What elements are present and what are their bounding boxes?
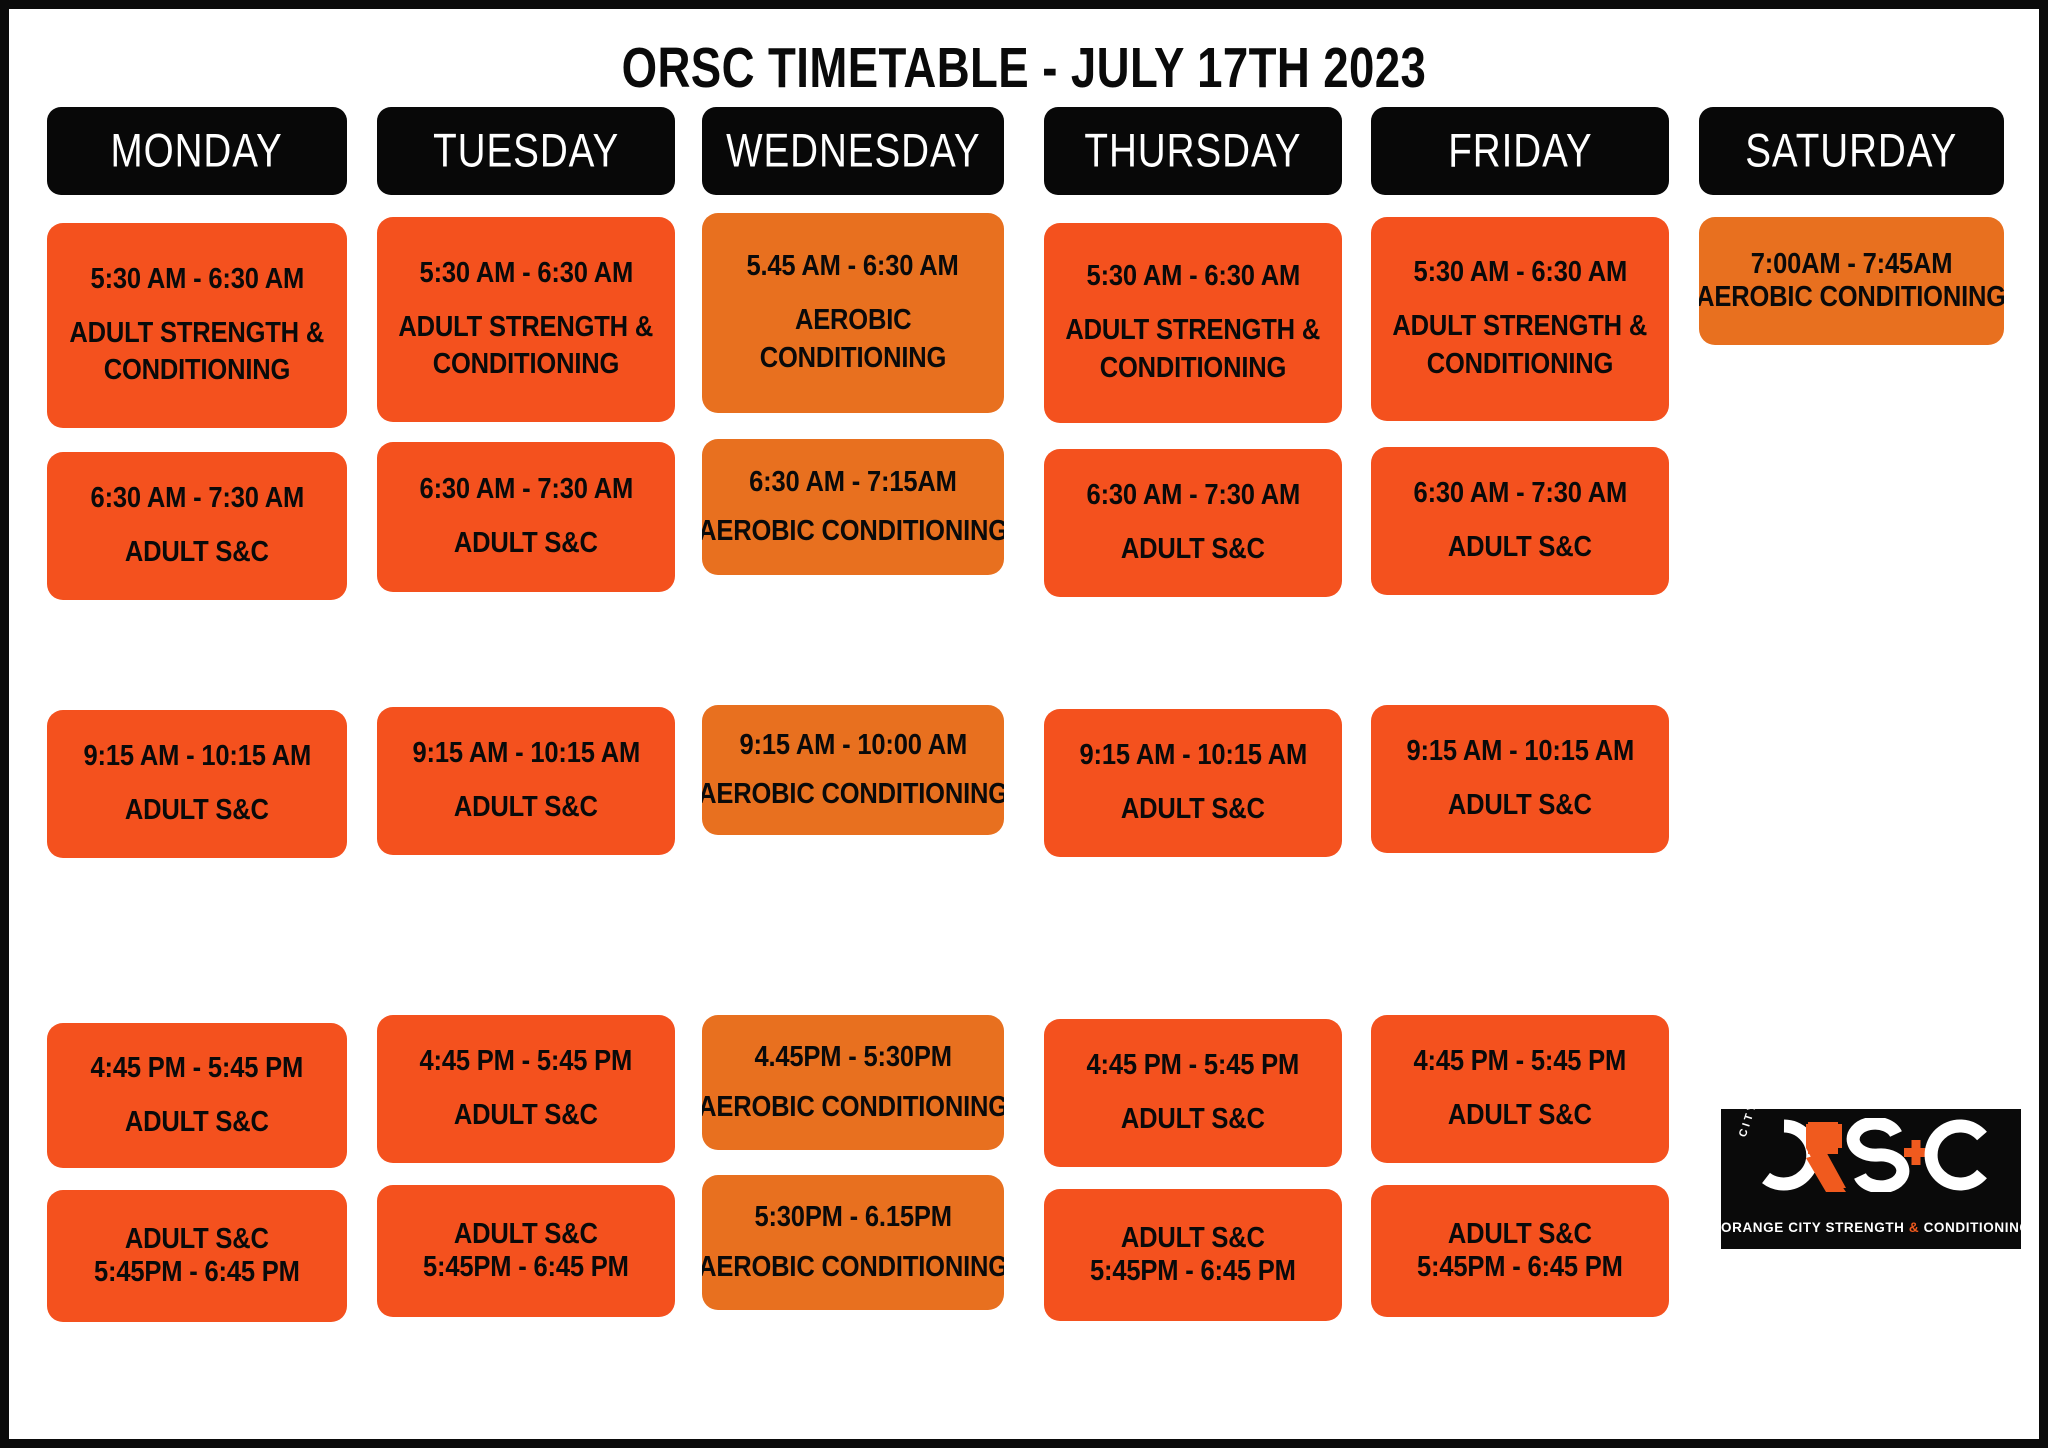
session-time: 5:45PM - 6:45 PM [1090, 1255, 1296, 1288]
session-name-line2: CONDITIONING [104, 352, 290, 390]
session-time: 6:30 AM - 7:15AM [749, 466, 957, 499]
day-header-monday: MONDAY [47, 107, 347, 195]
session-card[interactable]: 6:30 AM - 7:30 AM ADULT S&C [1044, 449, 1342, 597]
title-bar: ORSC TIMETABLE - JULY 17TH 2023 [9, 9, 2039, 107]
day-header-thursday: THURSDAY [1044, 107, 1342, 195]
day-header-label: MONDAY [111, 124, 283, 178]
session-name-line2: CONDITIONING [1427, 346, 1613, 384]
session-name-line1: ADULT S&C [1121, 1222, 1265, 1255]
session-card[interactable]: 4:45 PM - 5:45 PM ADULT S&C [377, 1015, 675, 1163]
session-card[interactable]: ADULT S&C 5:45PM - 6:45 PM [1371, 1185, 1669, 1317]
session-name-line1: ADULT S&C [125, 1223, 269, 1256]
session-name-line1: ADULT S&C [1448, 529, 1592, 567]
logo-tagline-ampersand: & [1909, 1220, 1919, 1235]
session-name-line1: AEROBIC CONDITIONING [702, 515, 1004, 548]
logo-tagline: ORANGE CITY STRENGTH & CONDITIONING [1721, 1220, 2021, 1235]
session-time: 9:15 AM - 10:15 AM [83, 738, 311, 776]
day-header-label: THURSDAY [1084, 124, 1301, 178]
session-name-line1: ADULT S&C [1121, 791, 1265, 829]
day-header-saturday: SATURDAY [1699, 107, 2004, 195]
session-time: 5:30 AM - 6:30 AM [90, 261, 304, 299]
session-name-line1: ADULT S&C [125, 534, 269, 572]
day-header-friday: FRIDAY [1371, 107, 1669, 195]
session-name-line1: ADULT S&C [1121, 1101, 1265, 1139]
column-monday: MONDAY 5:30 AM - 6:30 AM ADULT STRENGTH … [47, 107, 347, 1322]
session-name-line1: AEROBIC CONDITIONING [702, 1251, 1004, 1284]
session-time: 4.45PM - 5:30PM [754, 1041, 951, 1074]
session-card[interactable]: 6:30 AM - 7:30 AM ADULT S&C [47, 452, 347, 600]
session-name-line1: ADULT S&C [125, 1104, 269, 1142]
session-time: 7:00AM - 7:45AM [1751, 248, 1953, 281]
session-time: 5:45PM - 6:45 PM [423, 1251, 629, 1284]
column-saturday: SATURDAY 7:00AM - 7:45AM AEROBIC CONDITI… [1699, 107, 2004, 345]
session-time: 6:30 AM - 7:30 AM [1086, 477, 1300, 515]
session-name-line1: ADULT STRENGTH & [1393, 308, 1648, 346]
session-card[interactable]: 5:30PM - 6.15PM AEROBIC CONDITIONING [702, 1175, 1004, 1310]
session-name-line1: ADULT S&C [125, 792, 269, 830]
session-name-line1: ADULT S&C [454, 1218, 598, 1251]
session-name-line1: ADULT S&C [1121, 531, 1265, 569]
session-name-line1: AEROBIC CONDITIONING [702, 778, 1004, 811]
session-name-line1: ADULT S&C [1448, 1218, 1592, 1251]
orsc-logo: CITY ORANG [1721, 1109, 2021, 1249]
session-card[interactable]: ADULT S&C 5:45PM - 6:45 PM [1044, 1189, 1342, 1321]
day-header-label: WEDNESDAY [726, 124, 980, 178]
session-card[interactable]: 4:45 PM - 5:45 PM ADULT S&C [1371, 1015, 1669, 1163]
column-thursday: THURSDAY 5:30 AM - 6:30 AM ADULT STRENGT… [1044, 107, 1342, 1321]
session-card[interactable]: 9:15 AM - 10:15 AM ADULT S&C [1044, 709, 1342, 857]
day-header-label: FRIDAY [1448, 124, 1592, 178]
column-friday: FRIDAY 5:30 AM - 6:30 AM ADULT STRENGTH … [1371, 107, 1669, 1317]
session-card[interactable]: ADULT S&C 5:45PM - 6:45 PM [47, 1190, 347, 1322]
page-title: ORSC TIMETABLE - JULY 17TH 2023 [622, 35, 1427, 101]
session-name-line1: AEROBIC CONDITIONING [1699, 281, 2004, 314]
session-time: 9:15 AM - 10:15 AM [412, 735, 640, 773]
session-name-line1: ADULT STRENGTH & [70, 315, 325, 353]
session-time: 6:30 AM - 7:30 AM [1413, 475, 1627, 513]
session-time: 4:45 PM - 5:45 PM [1087, 1047, 1300, 1085]
session-name-line1: ADULT S&C [454, 525, 598, 563]
day-header-label: SATURDAY [1745, 124, 1957, 178]
session-name-line1: ADULT STRENGTH & [399, 309, 654, 347]
session-time: 4:45 PM - 5:45 PM [1414, 1043, 1627, 1081]
session-card[interactable]: 5:30 AM - 6:30 AM ADULT STRENGTH & CONDI… [377, 217, 675, 422]
session-name-line1: ADULT S&C [1448, 787, 1592, 825]
session-name-line2: CONDITIONING [433, 346, 619, 384]
session-card[interactable]: 7:00AM - 7:45AM AEROBIC CONDITIONING [1699, 217, 2004, 345]
session-card[interactable]: ADULT S&C 5:45PM - 6:45 PM [377, 1185, 675, 1317]
session-time: 5:30 AM - 6:30 AM [419, 255, 633, 293]
session-card[interactable]: 4:45 PM - 5:45 PM ADULT S&C [1044, 1019, 1342, 1167]
day-header-label: TUESDAY [433, 124, 619, 178]
day-header-tuesday: TUESDAY [377, 107, 675, 195]
day-header-wednesday: WEDNESDAY [702, 107, 1004, 195]
session-name-line1: AEROBIC [795, 302, 911, 340]
session-time: 5:30 AM - 6:30 AM [1413, 254, 1627, 292]
session-time: 9:15 AM - 10:15 AM [1079, 737, 1307, 775]
session-card[interactable]: 5:30 AM - 6:30 AM ADULT STRENGTH & CONDI… [1371, 217, 1669, 421]
column-tuesday: TUESDAY 5:30 AM - 6:30 AM ADULT STRENGTH… [377, 107, 675, 1317]
timetable-poster: ORSC TIMETABLE - JULY 17TH 2023 MONDAY 5… [0, 0, 2048, 1448]
session-card[interactable]: 6:30 AM - 7:30 AM ADULT S&C [377, 442, 675, 592]
session-name-line1: ADULT S&C [454, 1097, 598, 1135]
session-card[interactable]: 5.45 AM - 6:30 AM AEROBIC CONDITIONING [702, 213, 1004, 413]
session-card[interactable]: 9:15 AM - 10:00 AM AEROBIC CONDITIONING [702, 705, 1004, 835]
logo-mark [1721, 1118, 2021, 1192]
session-time: 4:45 PM - 5:45 PM [420, 1043, 633, 1081]
session-card[interactable]: 9:15 AM - 10:15 AM ADULT S&C [377, 707, 675, 855]
session-card[interactable]: 9:15 AM - 10:15 AM ADULT S&C [1371, 705, 1669, 853]
session-name-line1: ADULT STRENGTH & [1066, 312, 1321, 350]
session-card[interactable]: 6:30 AM - 7:30 AM ADULT S&C [1371, 447, 1669, 595]
session-time: 9:15 AM - 10:15 AM [1406, 733, 1634, 771]
session-card[interactable]: 6:30 AM - 7:15AM AEROBIC CONDITIONING [702, 439, 1004, 575]
session-name-line1: ADULT S&C [454, 789, 598, 827]
session-time: 6:30 AM - 7:30 AM [419, 471, 633, 509]
session-time: 5:45PM - 6:45 PM [1417, 1251, 1623, 1284]
session-name-line1: AEROBIC CONDITIONING [702, 1091, 1004, 1124]
session-card[interactable]: 4.45PM - 5:30PM AEROBIC CONDITIONING [702, 1015, 1004, 1150]
session-name-line1: ADULT S&C [1448, 1097, 1592, 1135]
session-card[interactable]: 5:30 AM - 6:30 AM ADULT STRENGTH & CONDI… [1044, 223, 1342, 423]
session-time: 5:30PM - 6.15PM [754, 1201, 951, 1234]
session-time: 5:45PM - 6:45 PM [94, 1256, 300, 1289]
session-time: 5:30 AM - 6:30 AM [1086, 258, 1300, 296]
logo-tagline-after: CONDITIONING [1919, 1220, 2021, 1235]
session-time: 4:45 PM - 5:45 PM [91, 1050, 304, 1088]
session-name-line2: CONDITIONING [760, 340, 946, 378]
logo-letters-svg [1746, 1118, 1996, 1192]
column-wednesday: WEDNESDAY 5.45 AM - 6:30 AM AEROBIC COND… [702, 107, 1004, 1310]
session-card[interactable]: 5:30 AM - 6:30 AM ADULT STRENGTH & CONDI… [47, 223, 347, 428]
session-card[interactable]: 9:15 AM - 10:15 AM ADULT S&C [47, 710, 347, 858]
session-time: 5.45 AM - 6:30 AM [747, 248, 959, 286]
session-time: 9:15 AM - 10:00 AM [739, 729, 967, 762]
session-time: 6:30 AM - 7:30 AM [90, 480, 304, 518]
session-card[interactable]: 4:45 PM - 5:45 PM ADULT S&C [47, 1023, 347, 1168]
session-name-line2: CONDITIONING [1100, 350, 1286, 388]
logo-tagline-before: ORANGE CITY STRENGTH [1721, 1220, 1909, 1235]
